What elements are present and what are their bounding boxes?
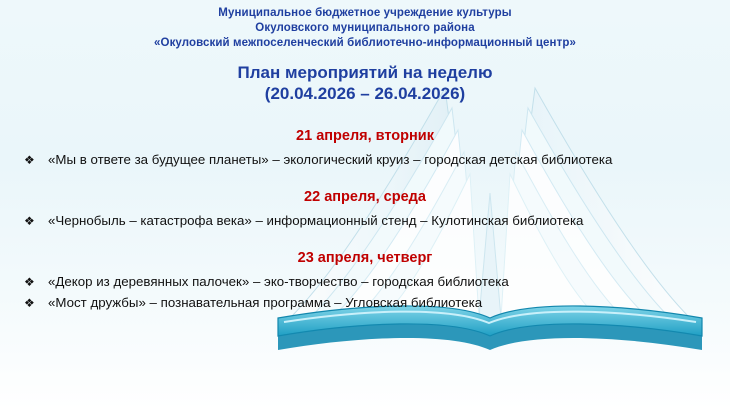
- event-text: «Декор из деревянных палочек» – эко-твор…: [48, 274, 509, 289]
- diamond-bullet-icon: ❖: [24, 211, 35, 231]
- event-list-2: ❖ «Чернобыль – катастрофа века» – информ…: [10, 211, 720, 231]
- plan-period: (20.04.2026 – 26.04.2026): [10, 83, 720, 104]
- diamond-bullet-icon: ❖: [24, 150, 35, 170]
- event-text: «Мост дружбы» – познавательная программа…: [48, 295, 482, 310]
- organization-line-2: Окуловского муниципального района: [10, 21, 720, 36]
- plan-title: План мероприятий на неделю: [10, 62, 720, 83]
- organization-block: Муниципальное бюджетное учреждение культ…: [10, 6, 720, 51]
- organization-line-1: Муниципальное бюджетное учреждение культ…: [10, 6, 720, 21]
- event-text: «Мы в ответе за будущее планеты» – эколо…: [48, 152, 612, 167]
- list-item: ❖ «Декор из деревянных палочек» – эко-тв…: [20, 272, 720, 292]
- event-text: «Чернобыль – катастрофа века» – информац…: [48, 213, 583, 228]
- list-item: ❖ «Чернобыль – катастрофа века» – информ…: [20, 211, 720, 231]
- diamond-bullet-icon: ❖: [24, 293, 35, 313]
- plan-title-block: План мероприятий на неделю (20.04.2026 –…: [10, 62, 720, 104]
- day-heading-2: 22 апреля, среда: [10, 189, 720, 205]
- diamond-bullet-icon: ❖: [24, 272, 35, 292]
- list-item: ❖ «Мы в ответе за будущее планеты» – эко…: [20, 150, 720, 170]
- slide-content: Муниципальное бюджетное учреждение культ…: [0, 0, 730, 313]
- event-list-1: ❖ «Мы в ответе за будущее планеты» – эко…: [10, 150, 720, 170]
- event-list-3: ❖ «Декор из деревянных палочек» – эко-тв…: [10, 272, 720, 313]
- day-heading-3: 23 апреля, четверг: [10, 250, 720, 266]
- organization-line-3: «Окуловский межпоселенческий библиотечно…: [10, 36, 720, 51]
- slide: Муниципальное бюджетное учреждение культ…: [0, 0, 730, 410]
- list-item: ❖ «Мост дружбы» – познавательная програм…: [20, 293, 720, 313]
- day-heading-1: 21 апреля, вторник: [10, 128, 720, 144]
